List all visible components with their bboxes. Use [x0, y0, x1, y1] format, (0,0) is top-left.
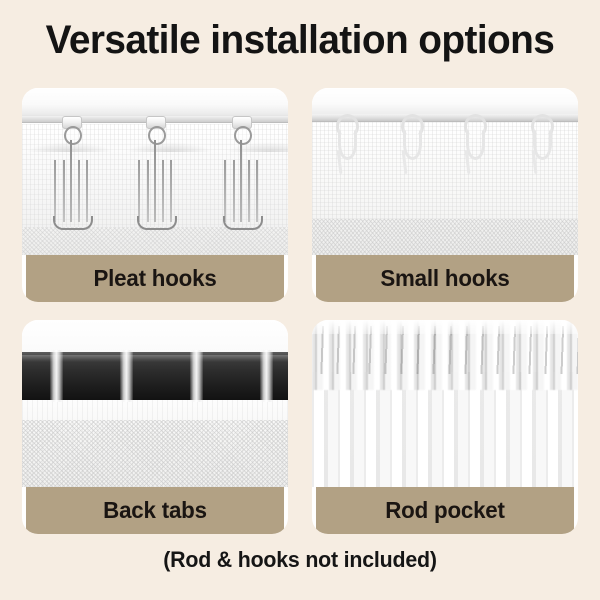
- pleat-pin-hook: [50, 116, 92, 255]
- ceiling-surface: [312, 88, 578, 115]
- pleat-pin-hook: [134, 116, 176, 255]
- card-caption-rod-pocket: Rod pocket: [316, 487, 574, 534]
- card-small-hooks[interactable]: Small hooks: [312, 88, 578, 302]
- ruffle-highlight: [312, 320, 578, 334]
- hook-ring: [64, 126, 82, 145]
- hook-shaft: [70, 140, 72, 222]
- photo-pleat-hooks: [22, 88, 288, 255]
- wall-background: [22, 320, 288, 354]
- back-tab: [50, 350, 63, 402]
- card-back-tabs[interactable]: Back tabs: [22, 320, 288, 534]
- hook-lower-curve: [466, 128, 485, 160]
- hook-ring: [148, 126, 166, 145]
- hook-shaft: [240, 140, 242, 222]
- hook-shaft: [154, 140, 156, 222]
- ceiling-surface: [22, 88, 288, 119]
- photo-back-tabs: [22, 320, 288, 487]
- back-tab: [120, 350, 133, 402]
- footnote: (Rod & hooks not included): [9, 547, 591, 573]
- hook-prong: [54, 160, 56, 222]
- photo-rod-pocket: [312, 320, 578, 487]
- card-caption-pleat-hooks: Pleat hooks: [26, 255, 284, 302]
- hook-prong: [170, 160, 172, 222]
- hook-lower-curve: [403, 128, 422, 160]
- hook-lower-curve: [533, 128, 552, 160]
- hook-ring: [234, 126, 252, 145]
- hook-lower-curve: [338, 128, 357, 160]
- glitter-band: [22, 420, 288, 487]
- hook-base: [53, 216, 93, 230]
- hook-base: [137, 216, 177, 230]
- small-hook: [460, 114, 486, 176]
- hook-base: [223, 216, 263, 230]
- hook-prong: [248, 160, 250, 222]
- card-caption-back-tabs: Back tabs: [26, 487, 284, 534]
- pleat-pin-hook: [220, 116, 262, 255]
- card-pleat-hooks[interactable]: Pleat hooks: [22, 88, 288, 302]
- hook-prong: [162, 160, 164, 222]
- hook-prong: [233, 160, 235, 222]
- card-caption-small-hooks: Small hooks: [316, 255, 574, 302]
- glitter-band: [312, 219, 578, 255]
- small-hook: [332, 114, 358, 176]
- hook-prong: [147, 160, 149, 222]
- hook-prong: [63, 160, 65, 222]
- hook-prong: [256, 160, 258, 222]
- promo-graphic: Versatile installation options: [0, 0, 600, 600]
- back-tab: [190, 350, 203, 402]
- installation-options-grid: Pleat hooks: [22, 88, 578, 534]
- small-hook: [527, 114, 553, 176]
- hook-prong: [138, 160, 140, 222]
- page-title: Versatile installation options: [9, 18, 591, 63]
- card-rod-pocket[interactable]: Rod pocket: [312, 320, 578, 534]
- hook-prong: [86, 160, 88, 222]
- photo-small-hooks: [312, 88, 578, 255]
- hook-prong: [224, 160, 226, 222]
- back-tab: [260, 350, 273, 402]
- small-hook: [397, 114, 423, 176]
- hook-prong: [78, 160, 80, 222]
